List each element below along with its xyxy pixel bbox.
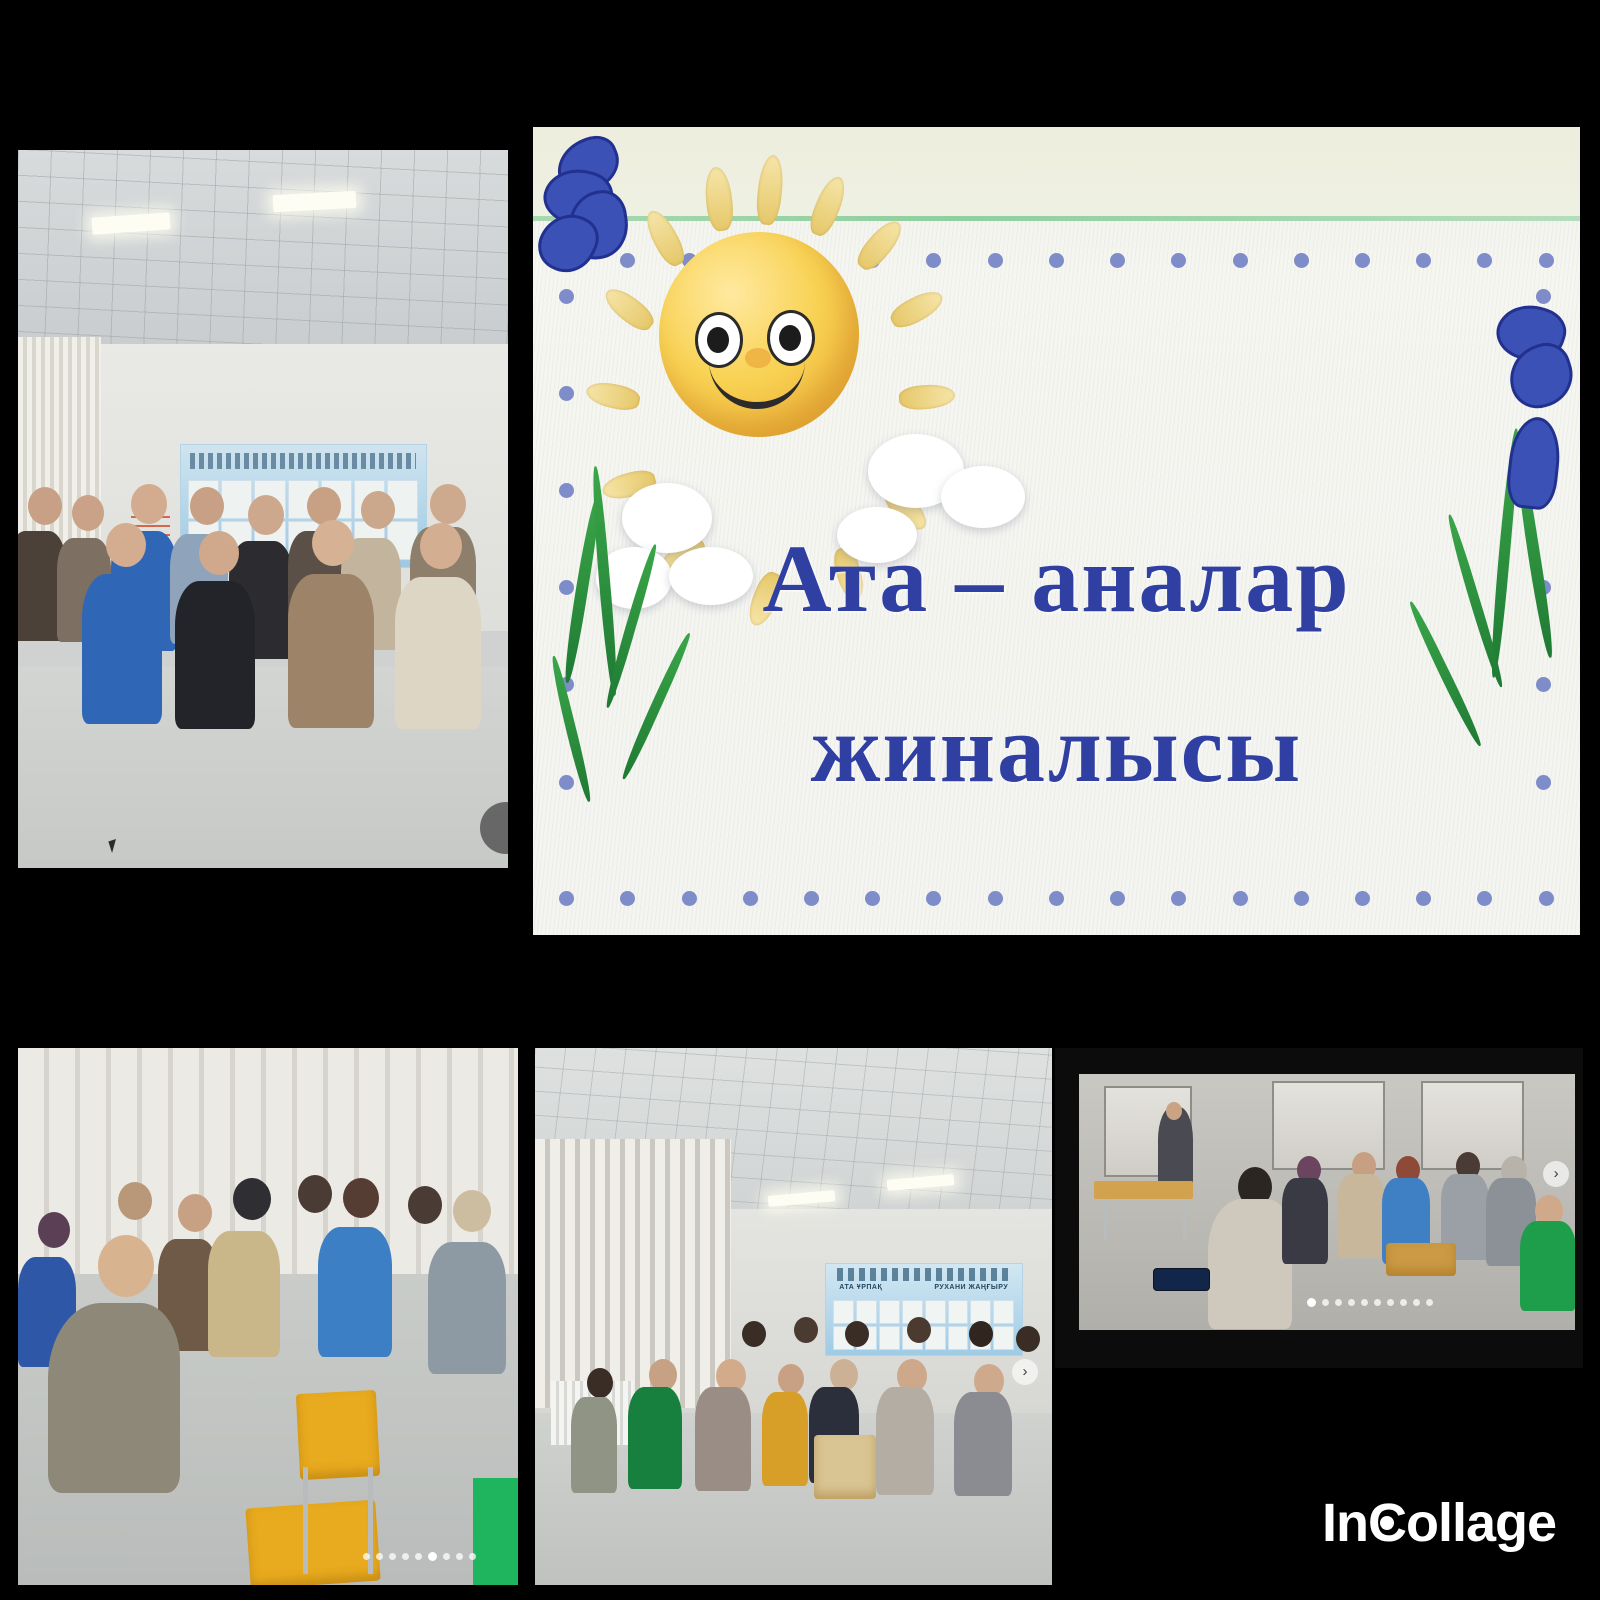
pagination-dots-bottom-right[interactable] — [1307, 1298, 1433, 1307]
photo-bottom-left-audience[interactable] — [18, 1048, 518, 1585]
audience-crowd — [18, 437, 508, 796]
iris-flower-right — [1465, 305, 1575, 535]
photo-top-left-audience[interactable] — [18, 150, 508, 868]
green-object — [473, 1478, 518, 1585]
watermark-text-after: ollage — [1406, 1493, 1556, 1553]
photo-bottom-middle-classroom[interactable]: АТА ҰРПАҚ РУХАНИ ЖАҢҒЫРУ — [535, 1048, 1052, 1585]
watermark-c-letter: C — [1368, 1492, 1406, 1554]
empty-chair — [814, 1435, 876, 1499]
board-label-right: РУХАНИ ЖАҢҒЫРУ — [934, 1284, 1008, 1291]
photo-presentation-slide[interactable]: Ата – аналар жиналысы — [533, 127, 1580, 935]
iris-flower-top-left — [538, 135, 648, 285]
watermark-text-before: In — [1322, 1493, 1368, 1553]
slide-title-line-1: Ата – аналар — [533, 523, 1580, 634]
screen-content: › — [1079, 1074, 1575, 1330]
audience-crowd — [18, 1145, 518, 1521]
chair — [1386, 1243, 1455, 1276]
ceiling — [18, 150, 508, 358]
chair-seat — [245, 1500, 380, 1585]
incollage-watermark: InCollage — [1322, 1492, 1556, 1554]
sun-face — [659, 232, 859, 437]
slide-surface: Ата – аналар жиналысы — [533, 127, 1580, 935]
carousel-next-button[interactable]: › — [1543, 1161, 1569, 1187]
photo-collage: Ата – аналар жиналысы — [0, 0, 1600, 1600]
slide-title-line-2: жиналысы — [533, 693, 1580, 804]
mobile-phone — [1153, 1268, 1210, 1290]
photo-bottom-right-speaker[interactable]: › — [1055, 1048, 1583, 1368]
audience-crowd — [535, 1317, 1052, 1553]
cloud — [941, 466, 1025, 528]
board-label-left: АТА ҰРПАҚ — [839, 1284, 882, 1291]
pagination-dots-bottom-left[interactable] — [363, 1552, 476, 1561]
